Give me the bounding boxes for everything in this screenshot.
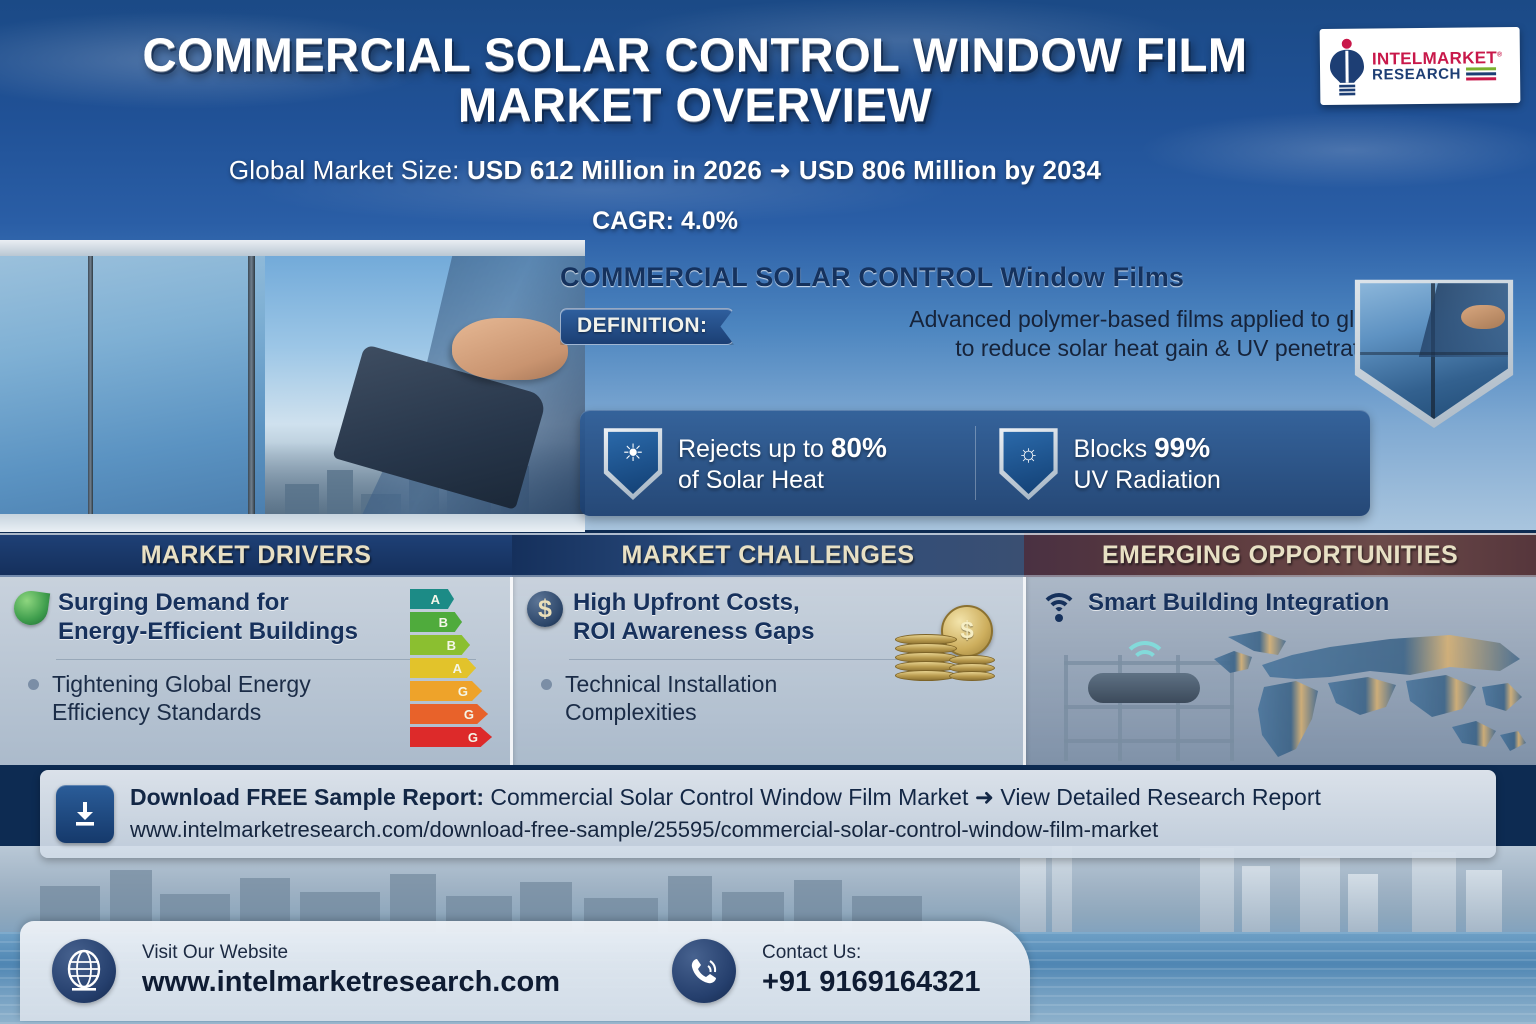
market-size-2034: USD 806 Million by 2034 <box>799 155 1101 185</box>
logo-bars-icon <box>1466 67 1496 80</box>
dollar-circle-icon: $ <box>527 591 563 627</box>
stat-0-prefix: Rejects up to <box>678 435 831 463</box>
uv-ray-icon: ☼ <box>998 426 1060 500</box>
world-map-icon <box>1200 625 1530 765</box>
coin-stack-icon: $ <box>893 605 1003 687</box>
lightbulb-icon <box>1328 38 1367 96</box>
download-arrow-icon: ➜ <box>975 784 994 810</box>
phone-icon[interactable] <box>672 939 736 1003</box>
driver-main-line2: Energy-Efficient Buildings <box>58 618 358 647</box>
definition-text-line2: to reduce solar heat gain & UV penetrati… <box>748 334 1390 363</box>
market-size-prefix: Global Market Size: <box>229 155 467 185</box>
definition-heading-regular: Window Films <box>1001 262 1185 292</box>
signal-icon <box>1122 641 1168 671</box>
globe-icon[interactable] <box>52 939 116 1003</box>
column-emerging-opportunities: Smart Building Integration <box>1023 577 1536 765</box>
column-market-challenges: $ High Upfront Costs, ROI Awareness Gaps… <box>510 577 1023 765</box>
logo-name-bottom: RESEARCH <box>1372 67 1461 83</box>
driver-sub-line2: Efficiency Standards <box>52 698 311 727</box>
driver-main-line1: Surging Demand for <box>58 589 358 618</box>
growth-arrow-icon: ➜ <box>769 155 791 185</box>
energy-grade-1: B <box>439 615 448 630</box>
stat-uv-radiation: ☼ Blocks 99% UV Radiation <box>975 426 1371 500</box>
download-label-rest: Commercial Solar Control Window Film Mar… <box>484 784 975 810</box>
website-url[interactable]: www.intelmarketresearch.com <box>142 965 560 1000</box>
energy-grade-5: G <box>464 707 474 722</box>
stat-1-line2: UV Radiation <box>1074 465 1221 496</box>
definition-badge: DEFINITION: <box>560 308 734 345</box>
download-sample-bar[interactable]: Download FREE Sample Report: Commercial … <box>40 770 1496 858</box>
infographic-page: COMMERCIAL SOLAR CONTROL WINDOW FILM MAR… <box>0 0 1536 1024</box>
sun-glyph: ☀ <box>602 442 664 466</box>
window-film-photo <box>0 240 585 532</box>
energy-grade-2: B <box>447 638 456 653</box>
section-header-bands: MARKET DRIVERS MARKET CHALLENGES EMERGIN… <box>0 533 1536 577</box>
company-logo[interactable]: INTELMARKET® RESEARCH <box>1320 27 1521 105</box>
footer-contact-bar: Visit Our Website www.intelmarketresearc… <box>20 921 1030 1021</box>
contact-label: Contact Us: <box>762 942 981 965</box>
stats-band: ☀ Rejects up to 80% of Solar Heat ☼ Bloc… <box>580 410 1370 516</box>
market-size-2026: USD 612 Million in 2026 <box>467 155 762 185</box>
window-film-shield-icon <box>1348 272 1520 428</box>
opportunity-main-line1: Smart Building Integration <box>1088 589 1389 618</box>
challenge-main-line1: High Upfront Costs, <box>573 589 814 618</box>
column-market-drivers: Surging Demand for Energy-Efficient Buil… <box>0 577 510 765</box>
challenge-sub-line2: Complexities <box>565 698 777 727</box>
download-icon[interactable] <box>56 785 114 843</box>
energy-rating-label-icon: A B B A G G G <box>410 589 492 750</box>
content-columns: Surging Demand for Energy-Efficient Buil… <box>0 577 1536 765</box>
website-label: Visit Our Website <box>142 942 560 965</box>
market-size-subtitle: Global Market Size: USD 612 Million in 2… <box>0 155 1330 186</box>
download-label-bold: Download FREE Sample Report: <box>130 784 484 810</box>
driver-sub-line1: Tightening Global Energy <box>52 670 311 699</box>
contact-phone[interactable]: +91 9169164321 <box>762 965 981 1000</box>
cagr-value: CAGR: 4.0% <box>0 207 1330 236</box>
definition-text-line1: Advanced polymer-based films applied to … <box>748 305 1390 334</box>
bullet-icon <box>28 679 39 690</box>
stat-0-line2: of Solar Heat <box>678 465 887 496</box>
band-market-challenges: MARKET CHALLENGES <box>512 533 1024 577</box>
download-url[interactable]: www.intelmarketresearch.com/download-fre… <box>130 816 1480 845</box>
definition-text: Advanced polymer-based films applied to … <box>748 305 1390 364</box>
energy-grade-0: A <box>431 592 440 607</box>
stat-1-prefix: Blocks <box>1074 435 1155 463</box>
stat-0-value: 80% <box>831 432 887 463</box>
challenge-main-line2: ROI Awareness Gaps <box>573 618 814 647</box>
world-map-scaffold-image <box>1026 625 1536 765</box>
stat-1-value: 99% <box>1154 432 1210 463</box>
wifi-icon <box>1040 591 1078 621</box>
energy-grade-3: A <box>453 661 462 676</box>
header: COMMERCIAL SOLAR CONTROL WINDOW FILM MAR… <box>0 0 1536 244</box>
energy-grade-6: G <box>468 730 478 745</box>
energy-grade-4: G <box>458 684 468 699</box>
trademark-symbol: ® <box>1497 51 1503 58</box>
challenge-sub-line1: Technical Installation <box>565 670 777 699</box>
page-title: COMMERCIAL SOLAR CONTROL WINDOW FILM MAR… <box>100 30 1290 130</box>
definition-heading-strong: COMMERCIAL SOLAR CONTROL <box>560 262 1001 292</box>
definition-section: COMMERCIAL SOLAR CONTROL Window Films DE… <box>560 262 1390 402</box>
band-emerging-opportunities: EMERGING OPPORTUNITIES <box>1024 533 1536 577</box>
download-cta[interactable]: View Detailed Research Report <box>994 784 1321 810</box>
sun-icon: ☀ <box>602 426 664 500</box>
band-market-drivers: MARKET DRIVERS <box>0 533 512 577</box>
definition-heading: COMMERCIAL SOLAR CONTROL Window Films <box>560 262 1390 293</box>
uv-glyph: ☼ <box>998 442 1060 466</box>
leaf-icon <box>12 589 50 627</box>
bullet-icon <box>541 679 552 690</box>
stat-solar-heat: ☀ Rejects up to 80% of Solar Heat <box>580 426 975 500</box>
